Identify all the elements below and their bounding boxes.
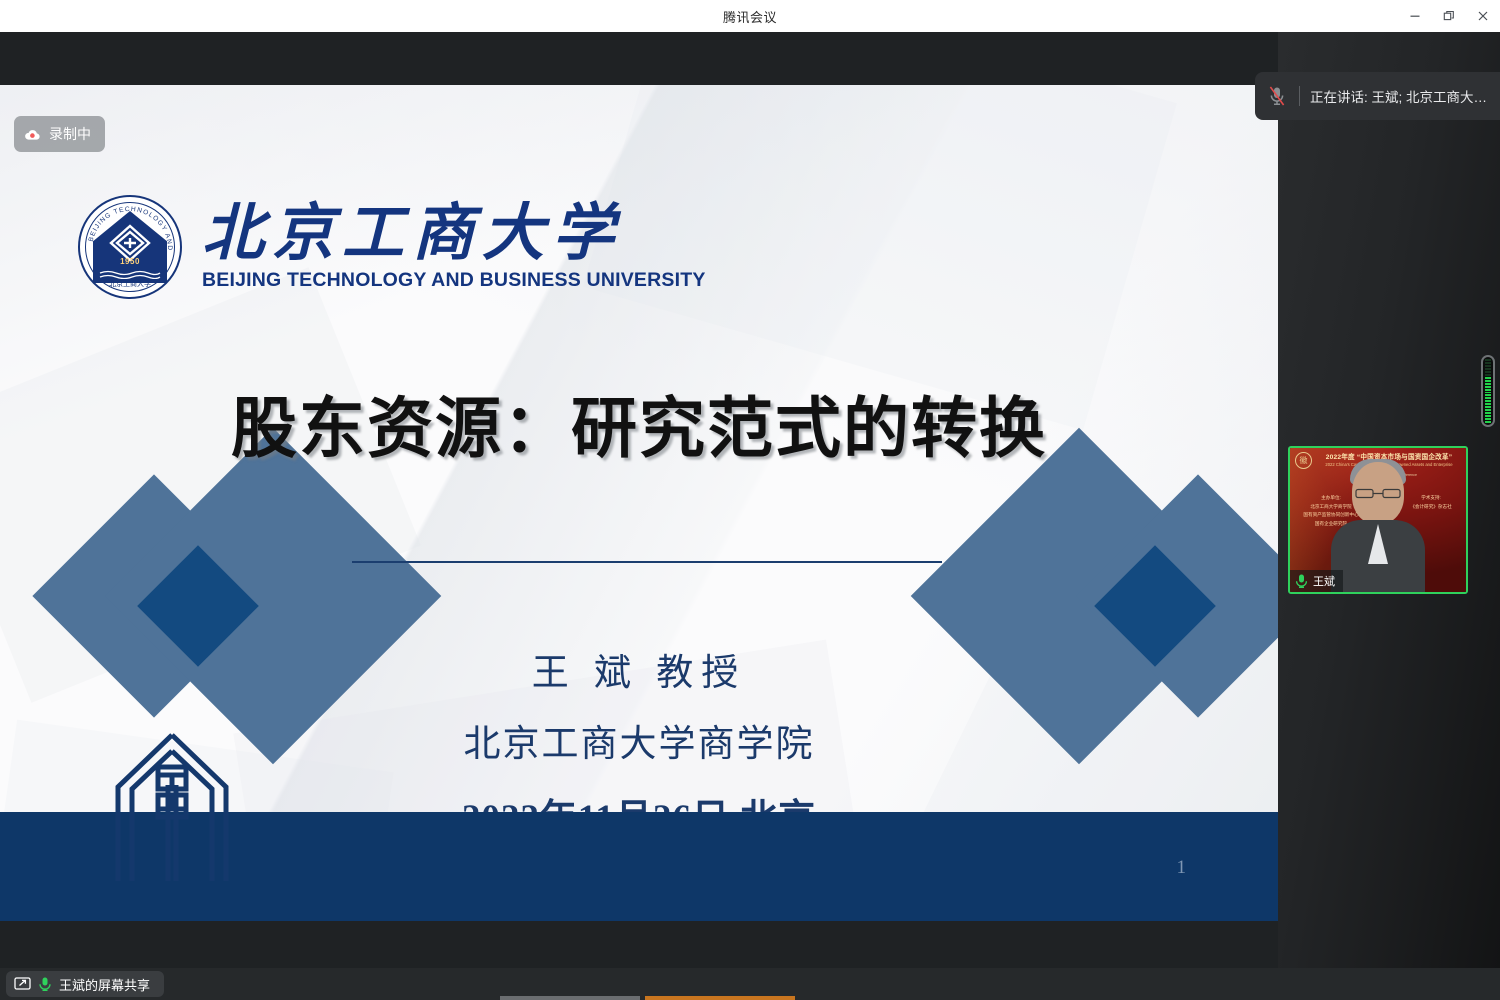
university-logo: BEIJING TECHNOLOGY AND BUSINESS UNIVERSI… (78, 195, 706, 299)
mic-muted-icon (1255, 85, 1299, 107)
logo-en-name: BEIJING TECHNOLOGY AND BUSINESS UNIVERSI… (202, 269, 706, 292)
active-speaker-label: 正在讲话: 王斌; 北京工商大学-... (1300, 86, 1500, 106)
tile-name-bar: 王斌 (1290, 570, 1343, 592)
slide-title: 股东资源：研究范式的转换 (0, 375, 1278, 471)
mic-on-icon (1294, 573, 1309, 589)
slide-presenter: 王 斌 教授 (0, 642, 1278, 696)
slide-page-number: 1 (1177, 857, 1187, 879)
tencent-meeting-window: 腾讯会议 (0, 0, 1500, 1000)
active-speaker-banner[interactable]: 正在讲话: 王斌; 北京工商大学-... (1255, 72, 1500, 120)
recording-label: 录制中 (49, 124, 91, 144)
background-window-strip-active[interactable] (645, 996, 795, 1000)
meander-ornament-icon (108, 729, 236, 881)
screen-share-label: 王斌的屏幕共享 (59, 975, 150, 994)
title-bar: 腾讯会议 (0, 0, 1500, 32)
audio-level-meter[interactable] (1481, 355, 1495, 427)
minimize-button[interactable] (1398, 0, 1432, 32)
crest-cn-name: 北京工商大学 (78, 279, 182, 289)
cloud-icon (24, 128, 41, 141)
university-crest-icon: BEIJING TECHNOLOGY AND BUSINESS UNIVERSI… (78, 195, 182, 299)
crest-year: 1950 (78, 257, 182, 266)
logo-wordmark: 北京工商大学 BEIJING TECHNOLOGY AND BUSINESS U… (202, 202, 706, 292)
crest-wave-icon (98, 269, 162, 279)
window-controls (1398, 0, 1500, 32)
logo-cn-name: 北京工商大学 (202, 202, 706, 267)
screen-share-indicator[interactable]: 王斌的屏幕共享 (6, 971, 164, 997)
recording-indicator[interactable]: 录制中 (14, 116, 105, 152)
bottom-taskbar: 王斌的屏幕共享 (0, 968, 1500, 1000)
window-title: 腾讯会议 (723, 7, 777, 26)
participant-name: 王斌 (1313, 573, 1335, 589)
participant-figure (1335, 462, 1421, 594)
mic-on-icon (38, 976, 52, 992)
screen-share-icon (14, 977, 31, 992)
presentation-slide: BEIJING TECHNOLOGY AND BUSINESS UNIVERSI… (0, 85, 1278, 921)
divider-line-left (352, 561, 942, 563)
shared-screen-stage[interactable]: BEIJING TECHNOLOGY AND BUSINESS UNIVERSI… (0, 32, 1278, 968)
glasses-icon (1354, 488, 1402, 499)
close-button[interactable] (1466, 0, 1500, 32)
background-window-strip[interactable] (500, 996, 640, 1000)
participant-video-tile[interactable]: 徽 2022年度 “中国资本市场与国资国企改革” 2022 China's Ca… (1288, 446, 1468, 594)
restore-button[interactable] (1432, 0, 1466, 32)
